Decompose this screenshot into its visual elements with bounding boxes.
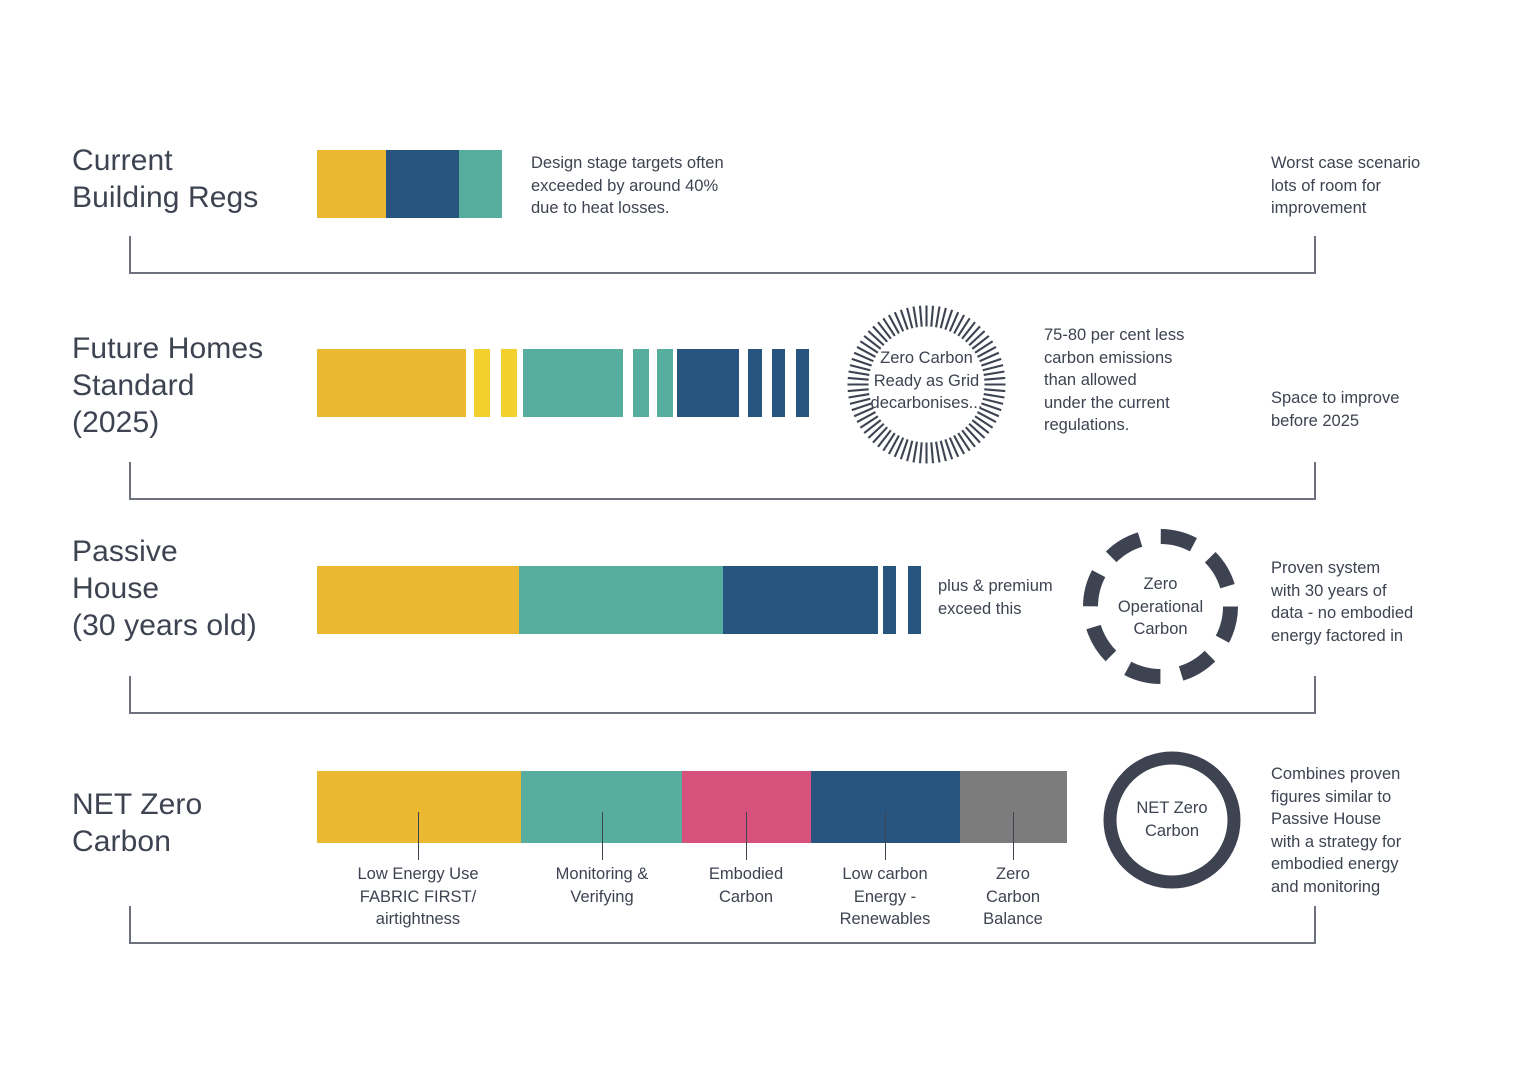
segment-low-carbon-energy-b — [883, 566, 896, 634]
segment-monitoring-verifying — [459, 150, 502, 218]
note-passive-house-center: plus & premium exceed this — [938, 575, 1088, 620]
segment-monitoring-verifying — [519, 566, 723, 634]
infographic-canvas: Current Building Regs Design stage targe… — [0, 0, 1536, 1086]
segment-low-carbon-energy-b — [748, 349, 762, 417]
bracket-current-building-regs — [129, 236, 1316, 274]
leader-line-low-carbon-energy — [885, 812, 886, 860]
segment-low-energy-use — [317, 566, 519, 634]
badge-net-zero-carbon: NET Zero Carbon — [1101, 749, 1243, 891]
badge-zero-carbon-ready: Zero Carbon Ready as Grid decarbonises..… — [845, 303, 1008, 466]
note-current-building-regs-center: Design stage targets often exceeded by a… — [531, 152, 771, 220]
segment-low-carbon-energy-d — [796, 349, 809, 417]
leader-line-monitoring-verifying — [602, 812, 603, 860]
segment-low-energy-use-c — [501, 349, 517, 417]
segment-low-carbon-energy-c — [772, 349, 785, 417]
badge-net-zero-carbon-label: NET Zero Carbon — [1101, 797, 1243, 842]
segment-low-energy-use — [317, 150, 386, 218]
badge-zero-operational-carbon: Zero Operational Carbon — [1079, 525, 1242, 688]
note-current-building-regs-right: Worst case scenario lots of room for imp… — [1271, 152, 1471, 220]
segment-low-energy-use — [317, 771, 521, 843]
segment-low-carbon-energy — [386, 150, 459, 218]
segment-low-carbon-energy — [677, 349, 739, 417]
badge-zero-operational-carbon-label: Zero Operational Carbon — [1079, 573, 1242, 641]
segment-monitoring-verifying-b — [633, 349, 649, 417]
bracket-net-zero-carbon — [129, 906, 1316, 944]
segment-low-carbon-energy — [723, 566, 878, 634]
note-passive-house-right: Proven system with 30 years of data - no… — [1271, 557, 1481, 647]
note-net-zero-carbon-right: Combines proven figures similar to Passi… — [1271, 763, 1471, 898]
leader-line-low-energy-use — [418, 812, 419, 860]
segment-low-energy-use — [317, 349, 466, 417]
bracket-future-homes-standard — [129, 462, 1316, 500]
bracket-passive-house — [129, 676, 1316, 714]
note-future-homes-standard-center: 75-80 per cent less carbon emissions tha… — [1044, 324, 1244, 437]
segment-monitoring-verifying-c — [657, 349, 673, 417]
leader-line-zero-carbon-balance — [1013, 812, 1014, 860]
segment-low-carbon-energy-c — [908, 566, 921, 634]
badge-zero-carbon-ready-label: Zero Carbon Ready as Grid decarbonises..… — [845, 347, 1008, 415]
segment-low-energy-use-b — [474, 349, 490, 417]
segment-monitoring-verifying — [523, 349, 623, 417]
note-future-homes-standard-right: Space to improve before 2025 — [1271, 387, 1471, 432]
leader-line-embodied-carbon — [746, 812, 747, 860]
